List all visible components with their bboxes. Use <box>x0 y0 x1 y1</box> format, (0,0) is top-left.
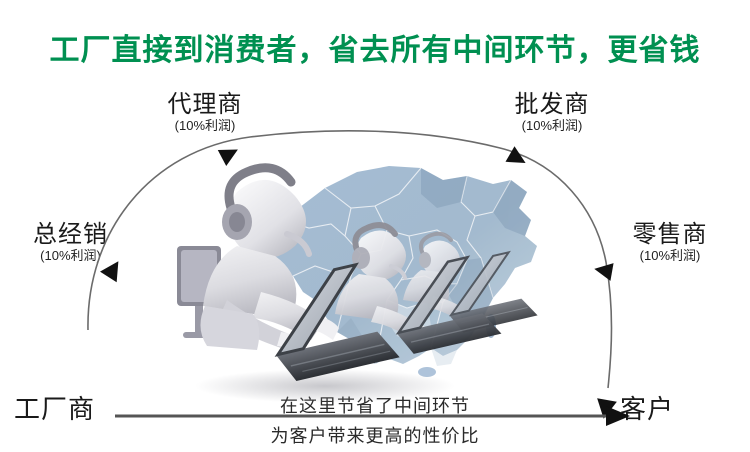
arc-arrow-to-agent <box>218 142 242 166</box>
shortcut-arrow-icon <box>606 406 630 426</box>
flow-arrows-layer <box>0 0 750 452</box>
arc-arrow-to-distributor <box>100 261 119 283</box>
arc-arrow-to-retailer <box>593 260 614 281</box>
chain-arc-path <box>88 131 612 388</box>
poster-canvas: 工厂直接到消费者，省去所有中间环节，更省钱 <box>0 0 750 452</box>
